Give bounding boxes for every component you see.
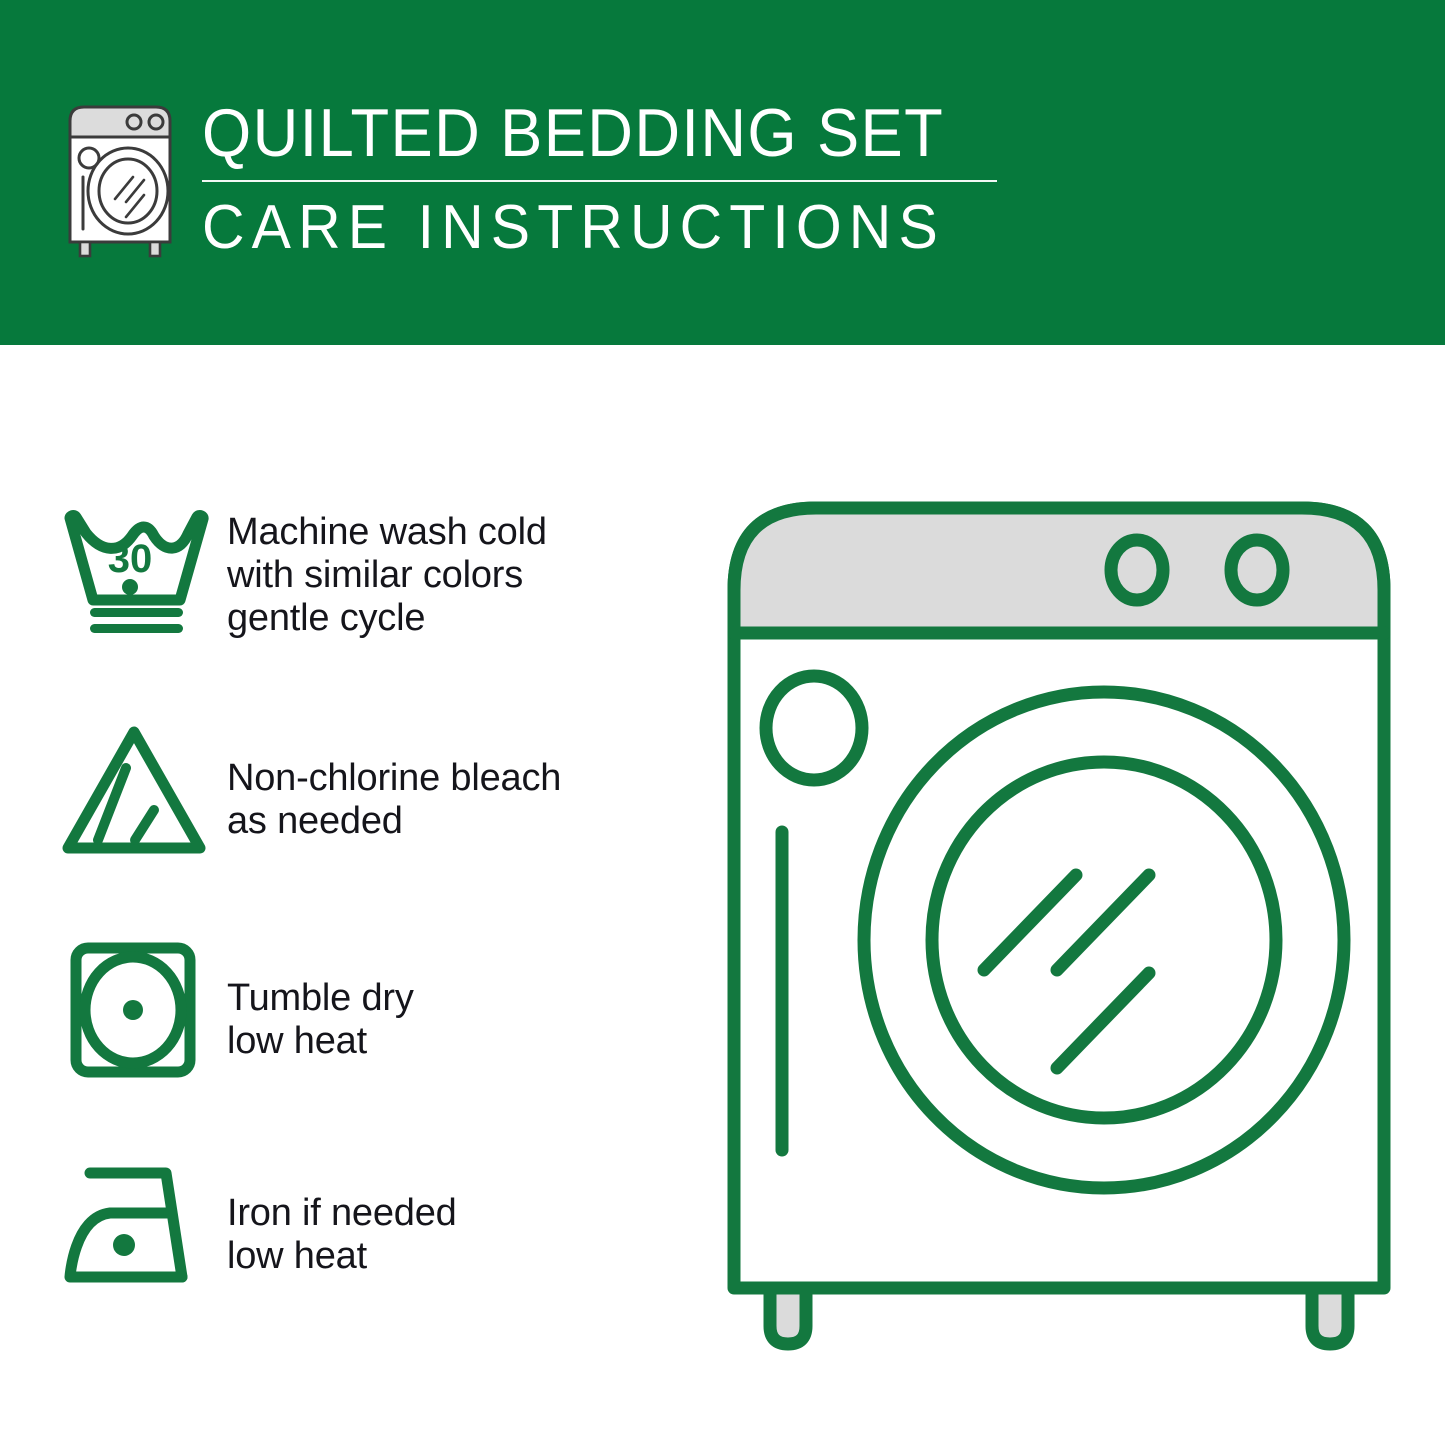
header-banner: QUILTED BEDDING SET CARE INSTRUCTIONS: [0, 0, 1445, 345]
care-instructions-page: QUILTED BEDDING SET CARE INSTRUCTIONS 30: [0, 0, 1445, 1445]
header-title-block: QUILTED BEDDING SET CARE INSTRUCTIONS: [202, 95, 1000, 261]
wash-temperature-label: 30: [108, 537, 153, 581]
care-row-iron: Iron if needed low heat: [62, 1150, 682, 1300]
care-instruction-list: 30 Machine wash cold with similar colors…: [0, 345, 700, 1445]
care-text-tumble-dry: Tumble dry low heat: [227, 935, 682, 1063]
care-row-tumble-dry: Tumble dry low heat: [62, 935, 682, 1085]
non-chlorine-bleach-triangle-icon: [62, 715, 227, 865]
care-row-machine-wash: 30 Machine wash cold with similar colors…: [62, 495, 682, 645]
wash-tub-30-gentle-icon: 30: [62, 495, 227, 645]
washing-machine-icon: [62, 99, 180, 259]
page-title: QUILTED BEDDING SET: [202, 97, 944, 169]
title-divider: [202, 180, 997, 182]
iron-low-heat-icon: [62, 1150, 227, 1300]
header-content: QUILTED BEDDING SET CARE INSTRUCTIONS: [62, 95, 992, 270]
care-text-bleach: Non-chlorine bleach as needed: [227, 715, 682, 843]
care-row-bleach: Non-chlorine bleach as needed: [62, 715, 682, 865]
page-subtitle: CARE INSTRUCTIONS: [202, 195, 960, 261]
tumble-dry-low-heat-icon: [62, 935, 227, 1085]
washing-machine-illustration: [712, 470, 1412, 1370]
care-text-iron: Iron if needed low heat: [227, 1150, 682, 1278]
care-text-machine-wash: Machine wash cold with similar colors ge…: [227, 495, 682, 640]
